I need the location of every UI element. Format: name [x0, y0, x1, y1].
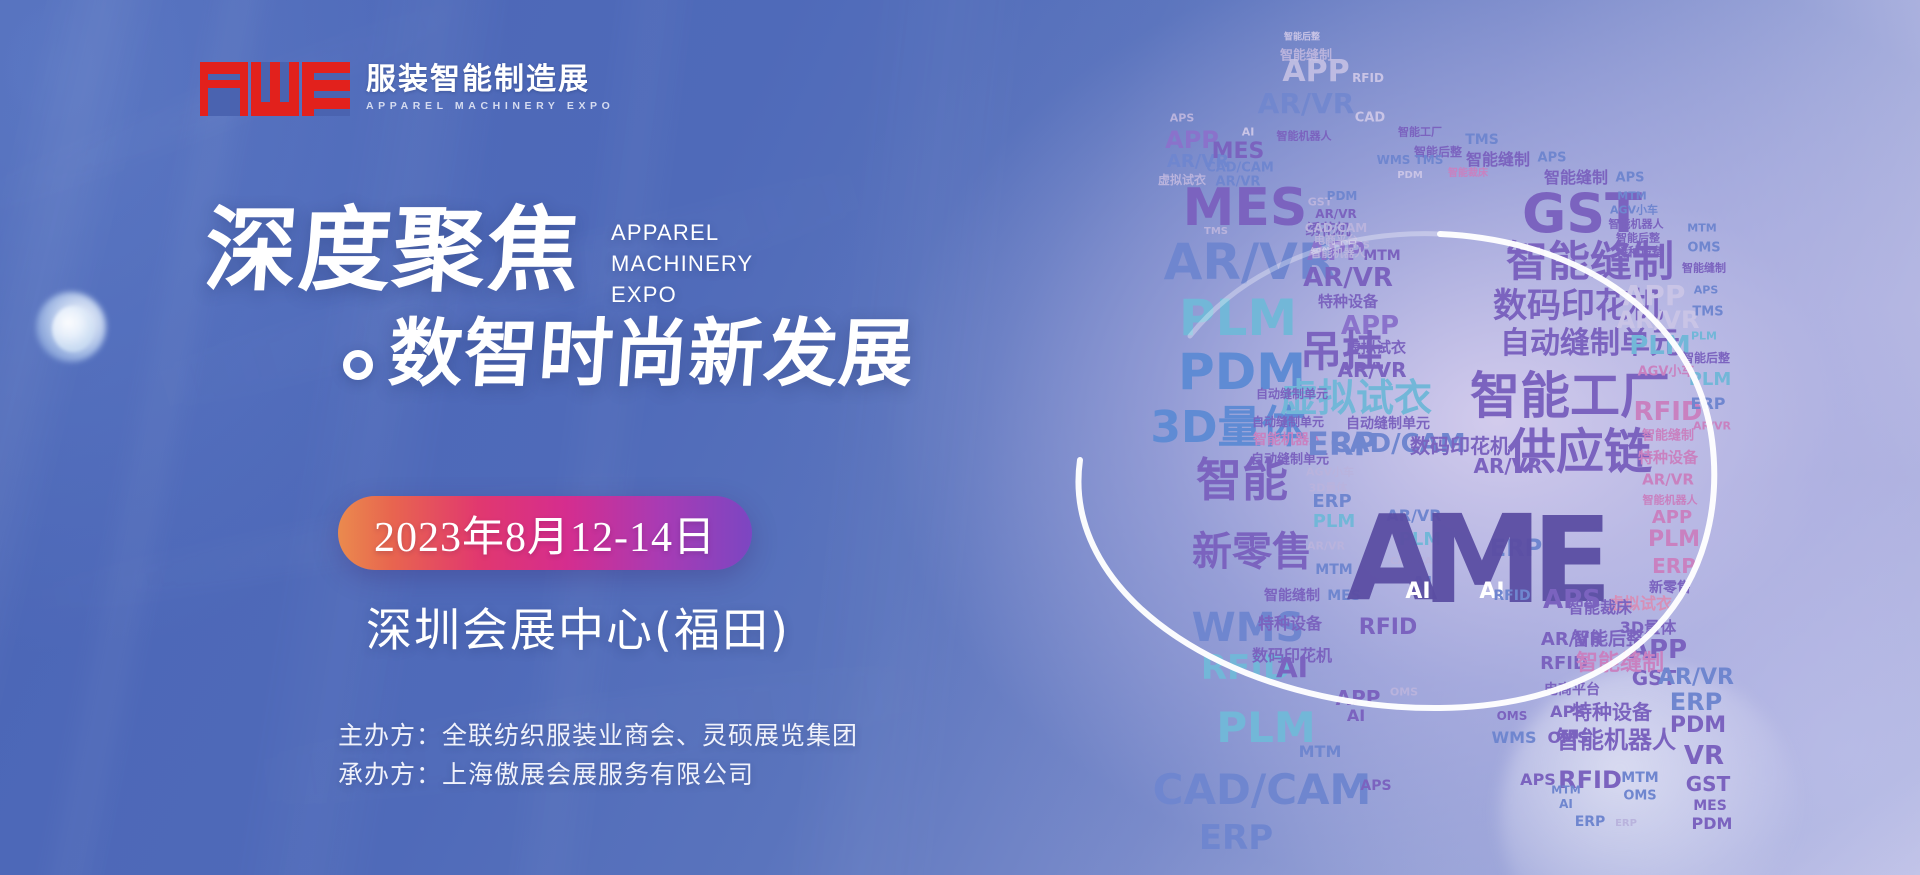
decorative-circle-icon	[343, 350, 373, 380]
headline-block: 深度聚焦 APPAREL MACHINERY EXPO 数智时尚新发展	[205, 205, 1045, 391]
organizer-block: 主办方：全联纺织服装业商会、灵硕展览集团 承办方：上海傲展会展服务有限公司	[338, 716, 858, 794]
event-date-text: 2023年8月12-14日	[374, 503, 716, 564]
headline-line-2: 数智时尚新发展	[386, 317, 916, 391]
headline-english: APPAREL MACHINERY EXPO	[611, 217, 753, 311]
headline-en-line-1: APPAREL	[611, 217, 753, 248]
logo-letter-e: E	[302, 62, 350, 116]
logo-letter-m: M	[251, 62, 299, 116]
headline-row-2: 数智时尚新发展	[205, 317, 1045, 391]
organizer-operator-line: 承办方：上海傲展会展服务有限公司	[338, 755, 858, 794]
word-cloud-tshirt: 智能后整 智能缝制 APP RFID AR/VR CAD 智能机器人 APS A…	[1120, 0, 1800, 875]
event-date-badge: 2023年8月12-14日	[338, 496, 752, 570]
organizer-host-line: 主办方：全联纺织服装业商会、灵硕展览集团	[338, 716, 858, 755]
logo-name-cn: 服装智能制造展	[366, 64, 614, 96]
event-venue: 深圳会展中心(福田)	[366, 594, 790, 660]
decorative-sphere	[52, 306, 94, 352]
headline-line-1: 深度聚焦	[202, 205, 584, 297]
headline-row-1: 深度聚焦 APPAREL MACHINERY EXPO	[205, 205, 1045, 311]
logo-letter-a: A	[200, 62, 248, 116]
headline-en-line-2: MACHINERY	[611, 248, 753, 279]
logo-name-en: APPAREL MACHINERY EXPO	[366, 100, 614, 112]
ame-logo-mark: A M E	[200, 62, 350, 116]
expo-banner: A M E 服装智能制造展 APPAREL MACHINERY EXPO 深度聚…	[0, 0, 1920, 875]
brand-logo[interactable]: A M E 服装智能制造展 APPAREL MACHINERY EXPO	[200, 62, 614, 116]
headline-en-line-3: EXPO	[611, 279, 753, 310]
logo-wordmark: 服装智能制造展 APPAREL MACHINERY EXPO	[366, 64, 614, 115]
